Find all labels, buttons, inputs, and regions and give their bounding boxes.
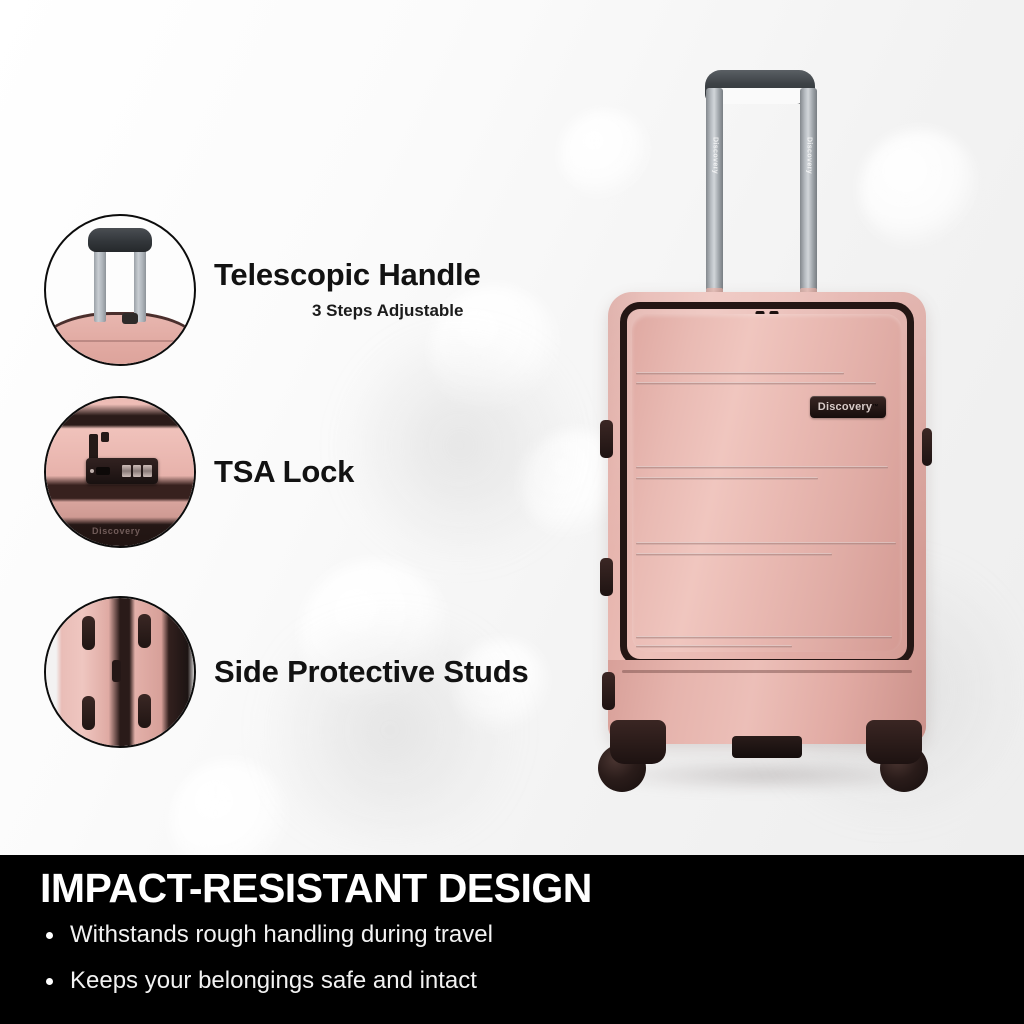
side-stud: [600, 558, 613, 596]
suitcase-body: Discovery™: [608, 292, 926, 744]
trademark-symbol: ™: [872, 404, 878, 410]
feature-title: TSA Lock: [214, 456, 354, 489]
feature-image-tsa-lock: Discovery: [44, 396, 196, 548]
feature-callout-side-studs: Side Protective Studs: [44, 596, 529, 748]
feature-image-telescopic-handle: [44, 214, 196, 366]
banner-bullet-item: Keeps your belongings safe and intact: [40, 969, 493, 993]
side-stud: [602, 672, 615, 710]
brand-logo-plate: Discovery™: [810, 396, 886, 418]
handle-brand-text: Discovery: [711, 137, 718, 174]
feature-image-side-studs: [44, 596, 196, 748]
suitcase-product-image: Discovery Discovery Discovery™: [580, 60, 950, 790]
banner-bullet-item: Withstands rough handling during travel: [40, 923, 493, 947]
wheel-housing: [866, 720, 922, 764]
side-stud: [600, 420, 613, 458]
bottom-banner: IMPACT-RESISTANT DESIGN Withstands rough…: [0, 855, 1024, 1024]
product-infographic: Telescopic Handle 3 Steps Adjustable Dis…: [0, 0, 1024, 1024]
handle-brand-text: Discovery: [805, 137, 812, 174]
feature-callout-telescopic-handle: Telescopic Handle 3 Steps Adjustable: [44, 214, 481, 366]
brand-logo-text: Discovery: [818, 401, 872, 413]
bottom-foot: [732, 736, 802, 758]
lock-brand-text: Discovery: [92, 526, 140, 536]
front-pocket-panel: Discovery™: [632, 314, 902, 652]
wheel-housing: [610, 720, 666, 764]
handle-tube-right: Discovery: [800, 88, 817, 320]
handle-tube-left: Discovery: [706, 88, 723, 320]
side-stud: [922, 428, 932, 466]
feature-callout-tsa-lock: Discovery TSA Lock: [44, 396, 354, 548]
banner-title: IMPACT-RESISTANT DESIGN: [40, 865, 592, 912]
feature-title: Telescopic Handle: [214, 259, 481, 292]
feature-subtitle: 3 Steps Adjustable: [312, 301, 481, 321]
banner-bullet-list: Withstands rough handling during travel …: [40, 923, 493, 1015]
feature-title: Side Protective Studs: [214, 656, 529, 689]
